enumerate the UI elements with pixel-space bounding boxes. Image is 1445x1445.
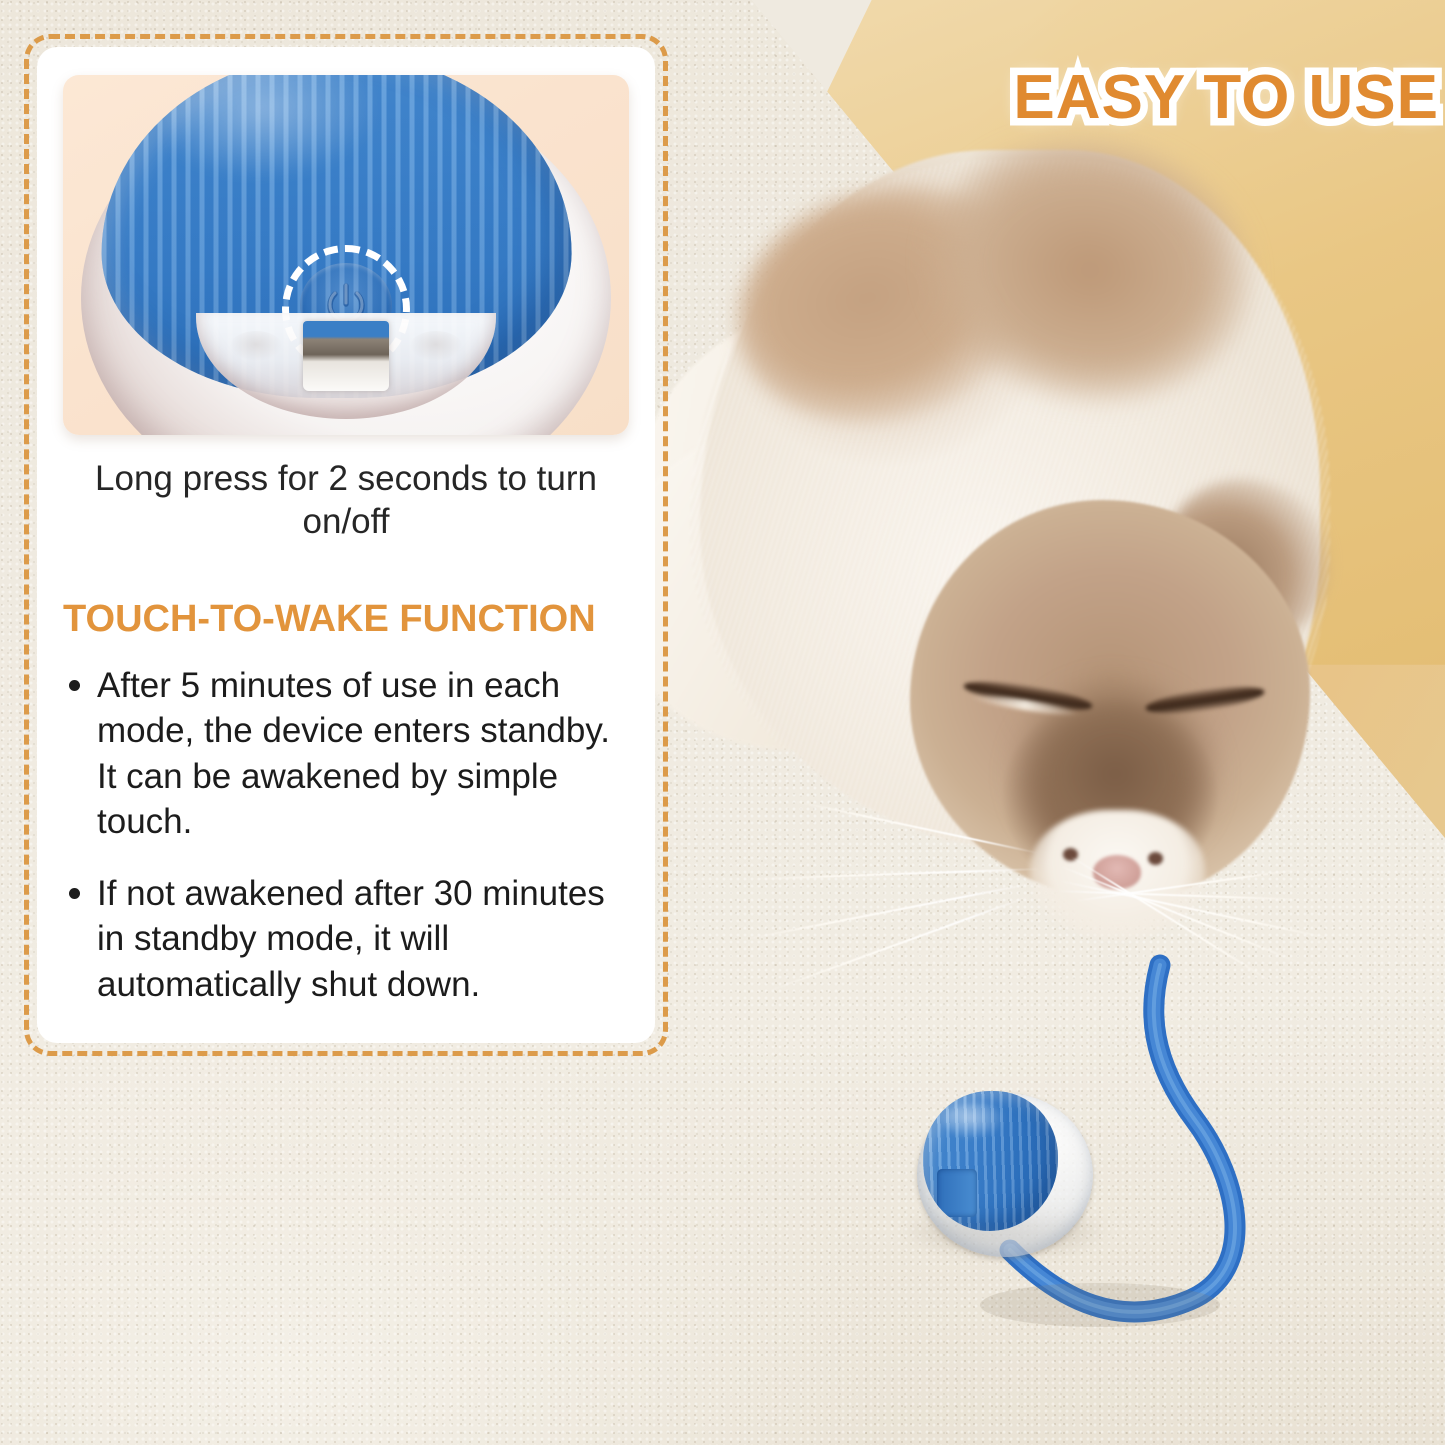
info-panel: Long press for 2 seconds to turn on/off … [24, 34, 668, 1056]
product-closeup-inset [63, 75, 629, 435]
inset-base-detail [230, 331, 282, 361]
ball-highlight [945, 1103, 1005, 1139]
info-panel-card: Long press for 2 seconds to turn on/off … [37, 47, 655, 1043]
ball-blue-cap [923, 1091, 1058, 1231]
section-title: TOUCH-TO-WAKE FUNCTION [63, 598, 629, 641]
inset-caption: Long press for 2 seconds to turn on/off [63, 457, 629, 544]
list-item: If not awakened after 30 minutes in stan… [63, 871, 629, 1008]
feature-bullet-list: After 5 minutes of use in each mode, the… [63, 663, 629, 1034]
cat-nostril-right [1148, 852, 1163, 865]
ball-power-tab [937, 1169, 977, 1217]
list-item: After 5 minutes of use in each mode, the… [63, 663, 629, 845]
inset-highlight [167, 75, 374, 177]
inset-base-detail [410, 331, 462, 361]
page-title: EASY TO USE [1013, 62, 1439, 133]
inset-charging-port [303, 321, 389, 391]
cat-toy-ball [915, 1085, 1095, 1275]
